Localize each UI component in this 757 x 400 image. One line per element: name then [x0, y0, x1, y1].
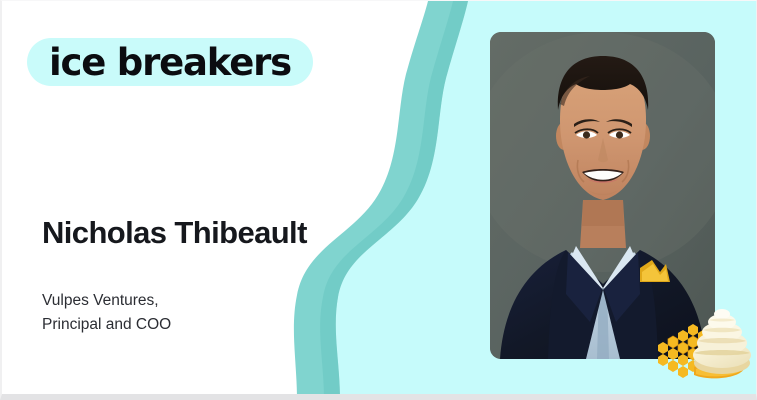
- speaker-name: Nicholas Thibeault: [42, 216, 307, 250]
- beehive-honeycomb-decoration: [650, 293, 757, 385]
- teal-wave-band: [294, 1, 468, 400]
- slide-canvas: ice breakers Nicholas Thibeault Vulpes V…: [0, 0, 757, 400]
- ice-breakers-badge: ice breakers: [27, 38, 313, 86]
- beehive-icon: [650, 293, 757, 385]
- ice-breakers-badge-label: ice breakers: [49, 44, 291, 81]
- hive-body: [693, 309, 751, 374]
- speaker-subtitle: Vulpes Ventures, Principal and COO: [42, 289, 171, 337]
- teal-wave-accent: [320, 1, 468, 400]
